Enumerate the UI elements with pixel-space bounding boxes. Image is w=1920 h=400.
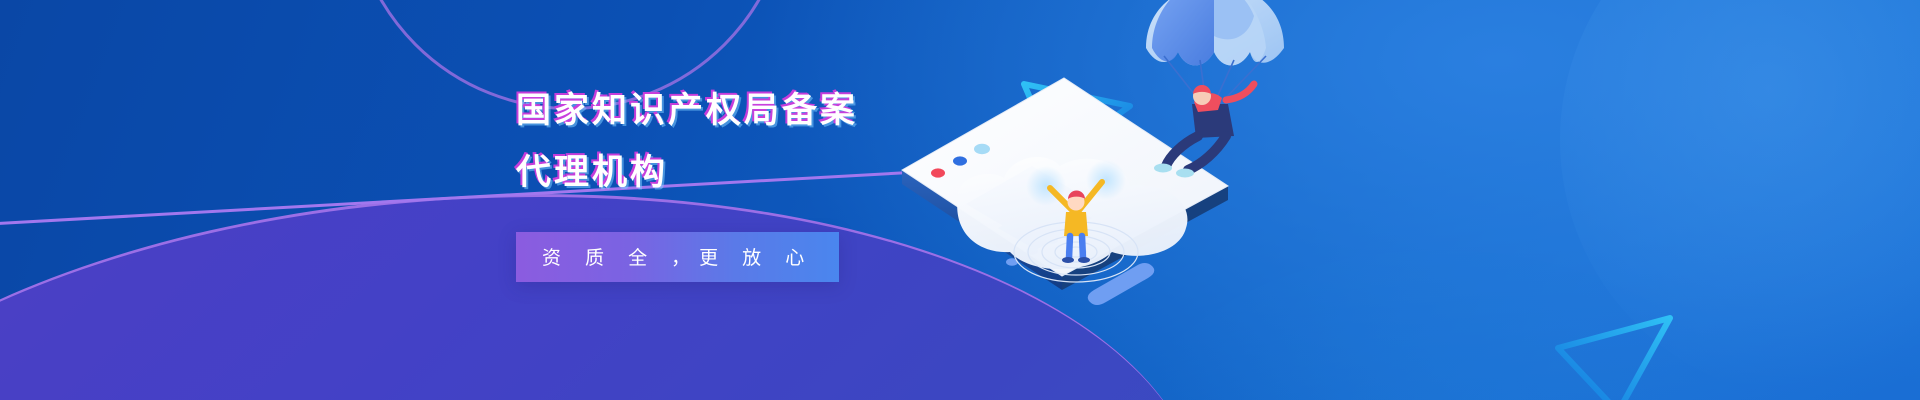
promo-banner: 国家知识产权局备案 代理机构 资 质 全 ，更 放 心 (0, 0, 1920, 400)
headline-line-1: 国家知识产权局备案 (516, 82, 1036, 140)
tagline-badge[interactable]: 资 质 全 ，更 放 心 (516, 232, 839, 282)
headline-line-2: 代理机构 (516, 144, 1036, 202)
cyan-triangle-bottom-icon (1548, 308, 1670, 400)
banner-copy: 国家知识产权局备案 代理机构 资 质 全 ，更 放 心 (516, 82, 1036, 282)
